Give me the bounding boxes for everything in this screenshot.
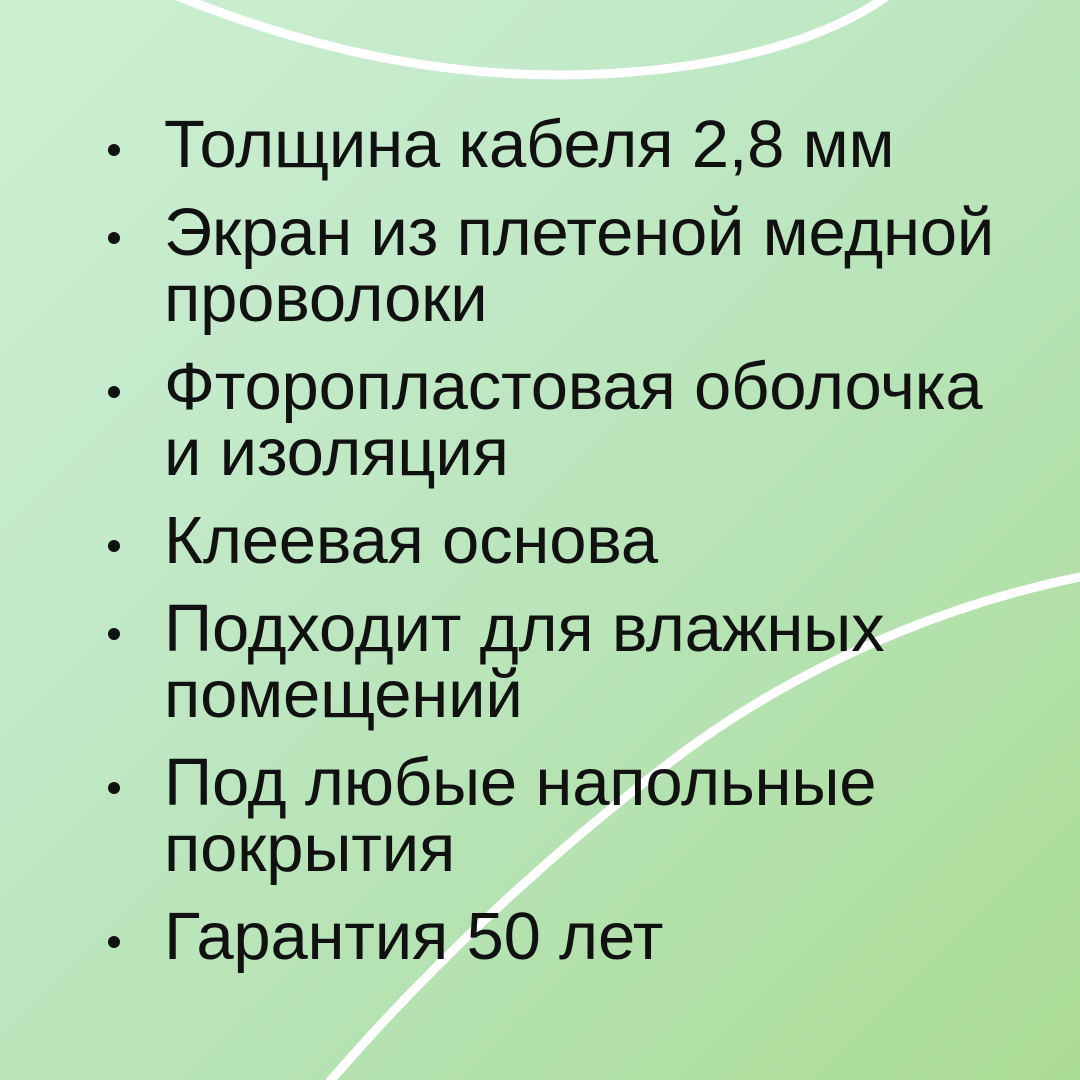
top-swoosh-curve <box>172 0 890 75</box>
feature-text: Толщина кабеля 2,8 мм <box>164 112 1008 178</box>
list-item: Гарантия 50 лет <box>108 904 1008 970</box>
list-item: Фторопластовая оболочка и изоляция <box>108 354 1008 486</box>
bullet-dot-icon <box>108 144 120 156</box>
feature-text: Под любые напольные покрытия <box>164 750 1008 882</box>
feature-text: Фторопластовая оболочка и изоляция <box>164 354 1008 486</box>
feature-text: Подходит для влажных помещений <box>164 596 1008 728</box>
bullet-dot-icon <box>108 232 120 244</box>
list-item: Экран из плетеной медной проволоки <box>108 200 1008 332</box>
bullet-dot-icon <box>108 936 120 948</box>
feature-bullet-list: Толщина кабеля 2,8 мм Экран из плетеной … <box>108 112 1008 970</box>
bullet-dot-icon <box>108 628 120 640</box>
list-item: Под любые напольные покрытия <box>108 750 1008 882</box>
feature-text: Клеевая основа <box>164 508 1008 574</box>
list-item: Клеевая основа <box>108 508 1008 574</box>
list-item: Толщина кабеля 2,8 мм <box>108 112 1008 178</box>
feature-text: Гарантия 50 лет <box>164 904 1008 970</box>
bullet-dot-icon <box>108 386 120 398</box>
list-item: Подходит для влажных помещений <box>108 596 1008 728</box>
bullet-dot-icon <box>108 782 120 794</box>
promo-slide: Толщина кабеля 2,8 мм Экран из плетеной … <box>0 0 1080 1080</box>
feature-text: Экран из плетеной медной проволоки <box>164 200 1008 332</box>
bullet-dot-icon <box>108 540 120 552</box>
